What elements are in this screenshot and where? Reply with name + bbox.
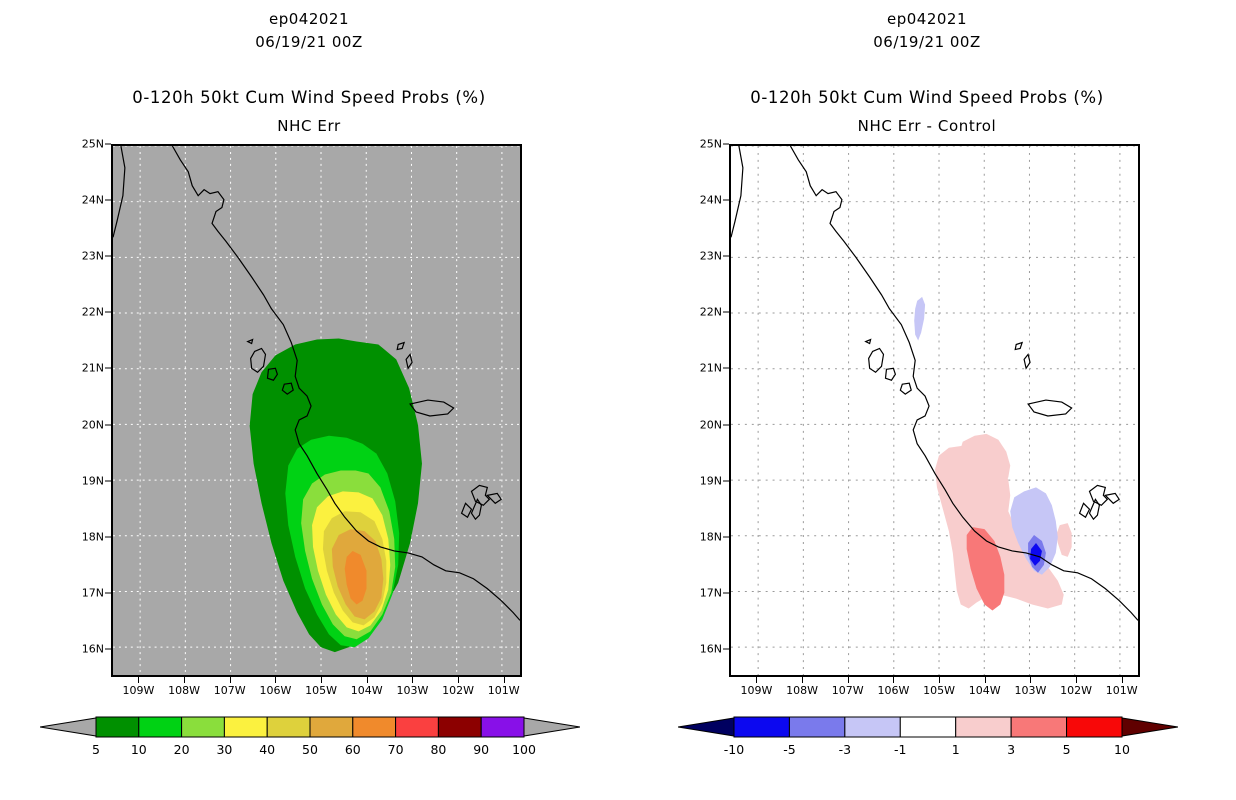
probability-colorbar-swatch-2 [182, 717, 225, 737]
anomaly-colorbar-extend-low [678, 718, 734, 736]
probability-colorbar-swatch-5 [310, 717, 353, 737]
probability-colorbar-extend-low [40, 718, 96, 736]
island-isabel [248, 340, 253, 344]
anomaly-colorbar-labels: -10-5-3-113510 [678, 742, 1178, 760]
ytick-label-17N-left: 17N [82, 586, 104, 599]
xtick-label-101W-right: 101W [1106, 684, 1138, 697]
xtick-label-104W-left: 104W [351, 684, 383, 697]
ytick-mark-19N-right [723, 480, 729, 481]
xtick-mark-101W-right [1122, 677, 1123, 683]
probability-colorbar-swatch-7 [396, 717, 439, 737]
islet-north [397, 343, 404, 350]
map-canvas-left [113, 146, 520, 675]
probability-colorbar-swatch-3 [224, 717, 267, 737]
ytick-label-25N-left: 25N [82, 138, 104, 151]
lake-chapala [410, 400, 454, 416]
baja-coast [113, 146, 125, 237]
probability-colorbar-label-90: 90 [473, 742, 489, 757]
baja-coast [731, 146, 743, 237]
probability-colorbar-swatch-9 [481, 717, 524, 737]
ytick-mark-18N-left [105, 536, 111, 537]
map-canvas-right [731, 146, 1138, 675]
ytick-mark-23N-left [105, 256, 111, 257]
probability-colorbar-labels: 5102030405060708090100 [40, 742, 580, 760]
probability-colorbar-label-5: 5 [92, 742, 100, 757]
island-maria-cleofas [900, 383, 911, 394]
xtick-label-106W-left: 106W [259, 684, 291, 697]
ytick-mark-20N-left [105, 424, 111, 425]
anomaly-colorbar-swatch-0 [734, 717, 789, 737]
xtick-mark-105W-right [939, 677, 940, 683]
xtick-label-105W-right: 105W [923, 684, 955, 697]
ytick-label-21N-left: 21N [82, 362, 104, 375]
anomaly-colorbar-label-5: 5 [1063, 742, 1071, 757]
anomaly-colorbar-label-1: 1 [952, 742, 960, 757]
ytick-label-23N-left: 23N [82, 250, 104, 263]
xtick-label-108W-left: 108W [168, 684, 200, 697]
ytick-mark-22N-left [105, 312, 111, 313]
xtick-label-109W-right: 109W [740, 684, 772, 697]
ytick-mark-24N-left [105, 200, 111, 201]
islet-north [1015, 343, 1022, 350]
ytick-mark-23N-right [723, 256, 729, 257]
xtick-label-104W-right: 104W [969, 684, 1001, 697]
probability-colorbar [40, 716, 580, 738]
map-frame-right [729, 144, 1140, 677]
ytick-label-24N-right: 24N [700, 194, 722, 207]
xtick-mark-108W-left [184, 677, 185, 683]
ytick-mark-21N-left [105, 368, 111, 369]
datetime-right: 06/19/21 00Z [618, 33, 1236, 51]
xtick-mark-107W-right [848, 677, 849, 683]
ytick-mark-17N-right [723, 592, 729, 593]
anomaly-colorbar-swatch-4 [956, 717, 1011, 737]
lake-feature-b [1105, 493, 1119, 503]
xtick-mark-103W-left [412, 677, 413, 683]
ytick-label-20N-right: 20N [700, 418, 722, 431]
probability-colorbar-label-70: 70 [388, 742, 404, 757]
anomaly-colorbar-swatch-3 [900, 717, 955, 737]
xtick-mark-102W-left [458, 677, 459, 683]
panel-subtitle-right: NHC Err - Control [618, 117, 1236, 135]
anomaly-colorbar-swatches [678, 716, 1178, 738]
probability-colorbar-label-40: 40 [259, 742, 275, 757]
map-plot-anomaly: 25N24N23N22N21N20N19N18N17N16N109W108W10… [729, 144, 1140, 677]
probability-colorbar-label-80: 80 [430, 742, 446, 757]
island-maria-magdalena [885, 368, 895, 380]
datetime-left: 06/19/21 00Z [0, 33, 618, 51]
ytick-mark-25N-left [105, 144, 111, 145]
xtick-label-105W-left: 105W [305, 684, 337, 697]
ytick-label-21N-right: 21N [700, 362, 722, 375]
island-isabel [866, 340, 871, 344]
xtick-mark-102W-right [1076, 677, 1077, 683]
map-plot-nhc-err: 25N24N23N22N21N20N19N18N17N16N109W108W10… [111, 144, 522, 677]
probability-colorbar-swatch-8 [438, 717, 481, 737]
probability-colorbar-label-10: 10 [131, 742, 147, 757]
ytick-mark-20N-right [723, 424, 729, 425]
anomaly-colorbar-label-neg5: -5 [783, 742, 795, 757]
ytick-mark-24N-right [723, 200, 729, 201]
probability-colorbar-label-60: 60 [345, 742, 361, 757]
storm-id-right: ep042021 [618, 10, 1236, 28]
anomaly-colorbar-label-neg10: -10 [724, 742, 744, 757]
panel-title-left: 0-120h 50kt Cum Wind Speed Probs (%) [0, 88, 618, 107]
anomaly-neg-1-north [914, 297, 925, 341]
ytick-label-23N-right: 23N [700, 250, 722, 263]
anomaly-colorbar-extend-high [1122, 718, 1178, 736]
xtick-label-102W-right: 102W [1060, 684, 1092, 697]
ytick-mark-21N-right [723, 368, 729, 369]
panel-nhc-err: ep042021 06/19/21 00Z 0-120h 50kt Cum Wi… [0, 0, 618, 800]
ytick-label-20N-left: 20N [82, 418, 104, 431]
ytick-label-22N-right: 22N [700, 306, 722, 319]
ytick-mark-25N-right [723, 144, 729, 145]
probability-colorbar-label-30: 30 [216, 742, 232, 757]
ytick-mark-18N-right [723, 536, 729, 537]
xtick-mark-104W-left [367, 677, 368, 683]
panel-title-right: 0-120h 50kt Cum Wind Speed Probs (%) [618, 88, 1236, 107]
xtick-mark-109W-right [756, 677, 757, 683]
lake-south-detail [1089, 499, 1099, 519]
xtick-mark-108W-right [802, 677, 803, 683]
probability-colorbar-label-20: 20 [174, 742, 190, 757]
probability-colorbar-swatches [40, 716, 580, 738]
xtick-mark-101W-left [504, 677, 505, 683]
anomaly-colorbar [678, 716, 1178, 738]
anomaly-contours [914, 297, 1071, 611]
xtick-label-108W-right: 108W [786, 684, 818, 697]
ytick-mark-16N-right [723, 648, 729, 649]
ytick-mark-22N-right [723, 312, 729, 313]
probability-colorbar-label-100: 100 [512, 742, 536, 757]
anomaly-colorbar-swatch-2 [845, 717, 900, 737]
xtick-mark-104W-right [985, 677, 986, 683]
ytick-label-17N-right: 17N [700, 586, 722, 599]
lake-feature-c [462, 503, 472, 517]
ytick-label-18N-right: 18N [700, 530, 722, 543]
probability-colorbar-swatch-4 [267, 717, 310, 737]
xtick-label-109W-left: 109W [122, 684, 154, 697]
ytick-label-25N-right: 25N [700, 138, 722, 151]
probability-colorbar-extend-high [524, 718, 580, 736]
island-maria-madre [869, 348, 884, 372]
ytick-label-16N-left: 16N [82, 642, 104, 655]
ytick-label-19N-right: 19N [700, 474, 722, 487]
anomaly-colorbar-label-3: 3 [1007, 742, 1015, 757]
lake-feature-b [487, 493, 501, 503]
xtick-label-106W-right: 106W [877, 684, 909, 697]
xtick-mark-109W-left [138, 677, 139, 683]
probability-colorbar-swatch-1 [139, 717, 182, 737]
xtick-label-103W-left: 103W [396, 684, 428, 697]
lake-chapala [1028, 400, 1072, 416]
lake-south-detail [471, 499, 481, 519]
ytick-label-24N-left: 24N [82, 194, 104, 207]
xtick-mark-107W-left [230, 677, 231, 683]
xtick-mark-105W-left [321, 677, 322, 683]
anomaly-colorbar-label-neg3: -3 [839, 742, 851, 757]
xtick-mark-106W-right [893, 677, 894, 683]
probability-colorbar-swatch-0 [96, 717, 139, 737]
anomaly-colorbar-label-neg1: -1 [894, 742, 906, 757]
probability-colorbar-label-50: 50 [302, 742, 318, 757]
ytick-label-18N-left: 18N [82, 530, 104, 543]
storm-id-left: ep042021 [0, 10, 618, 28]
xtick-label-102W-left: 102W [442, 684, 474, 697]
anomaly-colorbar-label-10: 10 [1114, 742, 1130, 757]
lake-feature-c [1080, 503, 1090, 517]
probability-colorbar-swatch-6 [353, 717, 396, 737]
xtick-mark-103W-right [1030, 677, 1031, 683]
gridlines-right [731, 146, 1138, 675]
ytick-mark-16N-left [105, 648, 111, 649]
map-frame-left [111, 144, 522, 677]
xtick-label-107W-left: 107W [214, 684, 246, 697]
xtick-label-103W-right: 103W [1014, 684, 1046, 697]
anomaly-colorbar-swatch-1 [789, 717, 844, 737]
coastline-right [731, 146, 1138, 620]
xtick-label-101W-left: 101W [488, 684, 520, 697]
ytick-label-22N-left: 22N [82, 306, 104, 319]
anomaly-colorbar-swatch-5 [1011, 717, 1066, 737]
ytick-label-16N-right: 16N [700, 642, 722, 655]
anomaly-pos-1-east [1057, 523, 1072, 557]
panel-subtitle-left: NHC Err [0, 117, 618, 135]
ytick-mark-19N-left [105, 480, 111, 481]
panel-nhc-err-minus-control: ep042021 06/19/21 00Z 0-120h 50kt Cum Wi… [618, 0, 1236, 800]
anomaly-colorbar-swatch-6 [1067, 717, 1122, 737]
ytick-mark-17N-left [105, 592, 111, 593]
ytick-label-19N-left: 19N [82, 474, 104, 487]
xtick-label-107W-right: 107W [832, 684, 864, 697]
xtick-mark-106W-left [275, 677, 276, 683]
